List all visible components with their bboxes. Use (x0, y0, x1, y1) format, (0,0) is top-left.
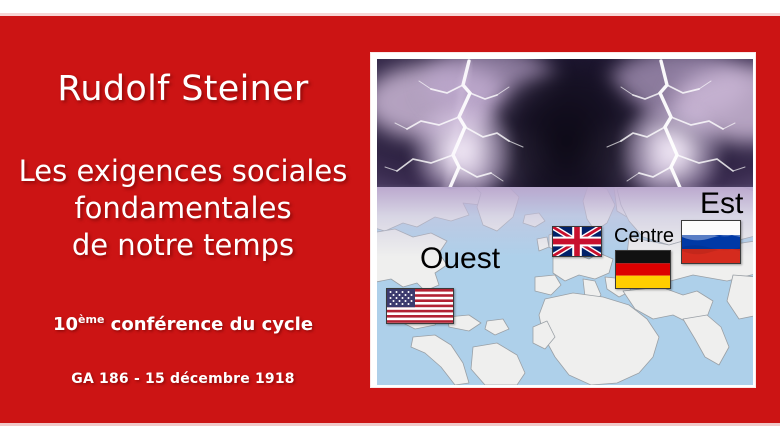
illustration-panel: Ouest Centre Est (371, 53, 755, 387)
world-map-landmasses (377, 187, 753, 385)
title-line-3: de notre temps (0, 227, 366, 264)
author-name: Rudolf Steiner (0, 69, 366, 109)
slide-root: Rudolf Steiner Les exigences sociales fo… (0, 0, 780, 439)
label-centre: Centre (614, 225, 674, 248)
lecture-title: Les exigences sociales fondamentales de … (0, 153, 366, 264)
label-est: Est (700, 187, 743, 221)
title-line-1: Les exigences sociales (0, 153, 366, 190)
label-ouest: Ouest (420, 242, 500, 276)
united-kingdom-flag-icon (552, 226, 602, 257)
conference-number-rest: conférence du cycle (104, 314, 313, 335)
world-map (377, 187, 753, 385)
united-states-flag-icon (386, 288, 454, 324)
ga-reference: GA 186 - 15 décembre 1918 (0, 371, 366, 387)
conference-number: 10ème conférence du cycle (0, 313, 366, 335)
text-column: Rudolf Steiner Les exigences sociales fo… (0, 13, 366, 426)
conference-ordinal-suffix: ème (78, 313, 104, 326)
illustration-canvas: Ouest Centre Est (377, 59, 753, 385)
russia-flag-icon (681, 220, 741, 264)
title-line-2: fondamentales (0, 190, 366, 227)
germany-flag-icon (615, 250, 671, 289)
conference-number-value: 10 (53, 314, 78, 335)
